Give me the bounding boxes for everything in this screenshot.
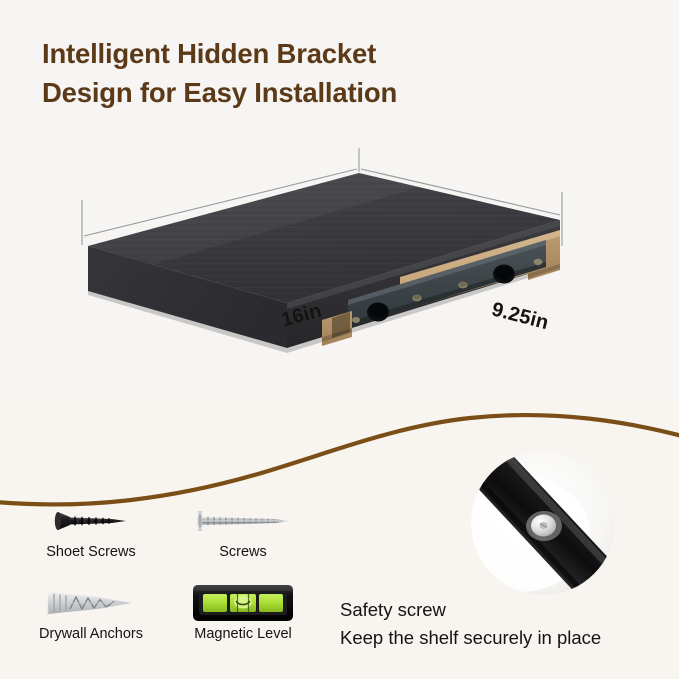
safety-screw-caption: Safety screw Keep the shelf securely in … (340, 596, 601, 652)
shelf-illustration: 16in 9.25in (60, 140, 580, 400)
product-infographic: Intelligent Hidden Bracket Design for Ea… (0, 0, 679, 679)
safety-title: Safety screw (340, 596, 601, 624)
safety-subtitle: Keep the shelf securely in place (340, 624, 601, 652)
shelf-drawing (60, 140, 580, 400)
magnetic-level-icon (168, 582, 318, 624)
safety-screw-inset (458, 438, 628, 608)
accessory-label: Shoet Screws (16, 544, 166, 560)
accessory-item: Screws (168, 500, 318, 560)
title-line-1: Intelligent Hidden Bracket (42, 34, 642, 73)
accessory-item: Drywall Anchors (16, 582, 166, 642)
accessory-item: Shoet Screws (16, 500, 166, 560)
safety-screw-closeup-icon (458, 438, 628, 608)
silver-screw-icon (168, 500, 318, 542)
black-screw-icon (16, 500, 166, 542)
level-vial-left (203, 594, 227, 612)
fastener-head (534, 259, 543, 265)
page-title: Intelligent Hidden Bracket Design for Ea… (42, 34, 642, 112)
fastener-head (352, 317, 360, 323)
accessory-label: Drywall Anchors (16, 626, 166, 642)
drywall-anchor-icon (16, 582, 166, 624)
accessory-label: Screws (168, 544, 318, 560)
accessory-label: Magnetic Level (168, 626, 318, 642)
level-vial-right (259, 594, 283, 612)
accessory-item: Magnetic Level (168, 582, 318, 642)
accessories-list: Shoet Screws (8, 500, 318, 660)
title-line-2: Design for Easy Installation (42, 73, 642, 112)
